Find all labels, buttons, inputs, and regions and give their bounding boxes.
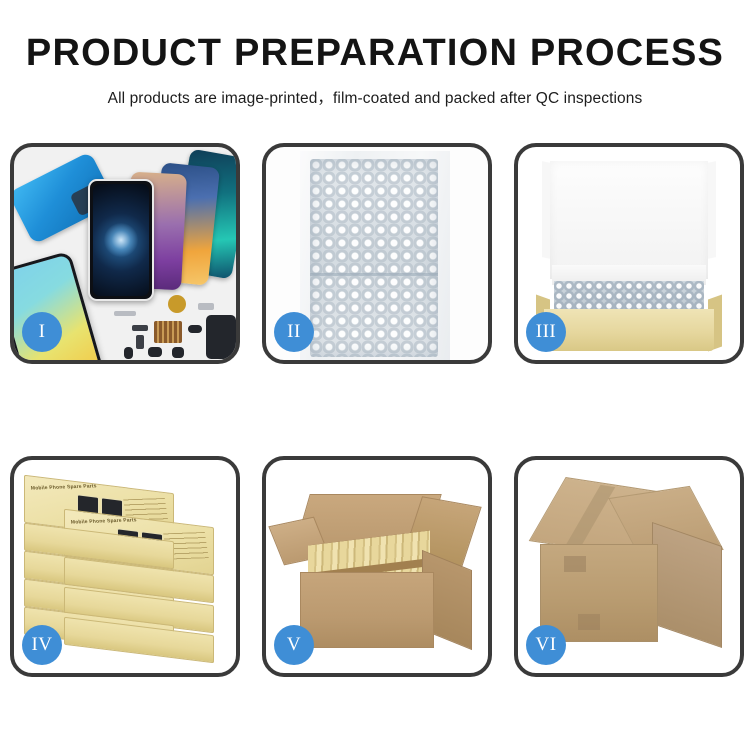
kraft-box-front-panel — [544, 309, 714, 351]
part-flex-strip-icon — [114, 311, 136, 316]
step-badge-5: V — [274, 625, 314, 665]
part-bracket-icon — [136, 335, 144, 349]
step-badge-1: I — [22, 312, 62, 352]
bubble-wrap-pouch-icon — [310, 159, 438, 357]
step-badge-2: II — [274, 312, 314, 352]
part-gold-coil-icon — [168, 295, 186, 313]
product-preparation-process-infographic: PRODUCT PREPARATION PROCESS All products… — [0, 0, 750, 750]
step-panel-5: V — [262, 456, 492, 677]
step-panel-4: Mobile Phone Spare Parts Mobile Phone Sp… — [10, 456, 240, 677]
step-badge-3: III — [526, 312, 566, 352]
process-steps-grid: I II III — [10, 143, 744, 677]
header: PRODUCT PREPARATION PROCESS All products… — [0, 0, 750, 120]
box-lid-back-panel — [550, 161, 708, 279]
step-badge-4: IV — [22, 625, 62, 665]
part-back-housing-icon — [206, 315, 236, 359]
page-title: PRODUCT PREPARATION PROCESS — [0, 0, 750, 72]
kraft-box-label-front: Mobile Phone Spare Parts — [71, 517, 138, 525]
part-camera-module-icon — [172, 347, 184, 358]
carton-hand-hole-lower — [578, 614, 600, 630]
part-metal-clip-icon — [198, 303, 214, 310]
part-connector-board-icon — [154, 321, 182, 343]
part-chip-icon — [188, 325, 202, 333]
bubble-wrap-seam — [310, 273, 438, 276]
page-subtitle: All products are image-printed，film-coat… — [0, 72, 750, 108]
carton-front-panel — [300, 572, 434, 648]
step-panel-3: III — [514, 143, 744, 364]
part-sim-tray-icon — [124, 347, 133, 359]
spare-parts-cluster — [110, 295, 236, 360]
phone-black-screen-icon — [88, 179, 154, 301]
carton-hand-hole-upper — [564, 556, 586, 572]
step-badge-6: VI — [526, 625, 566, 665]
step-panel-6: VI — [514, 456, 744, 677]
part-speaker-icon — [148, 347, 162, 357]
step-panel-2: II — [262, 143, 492, 364]
part-small-cable-icon — [132, 325, 148, 331]
step-panel-1: I — [10, 143, 240, 364]
kraft-box-label-rear: Mobile Phone Spare Parts — [31, 483, 98, 491]
